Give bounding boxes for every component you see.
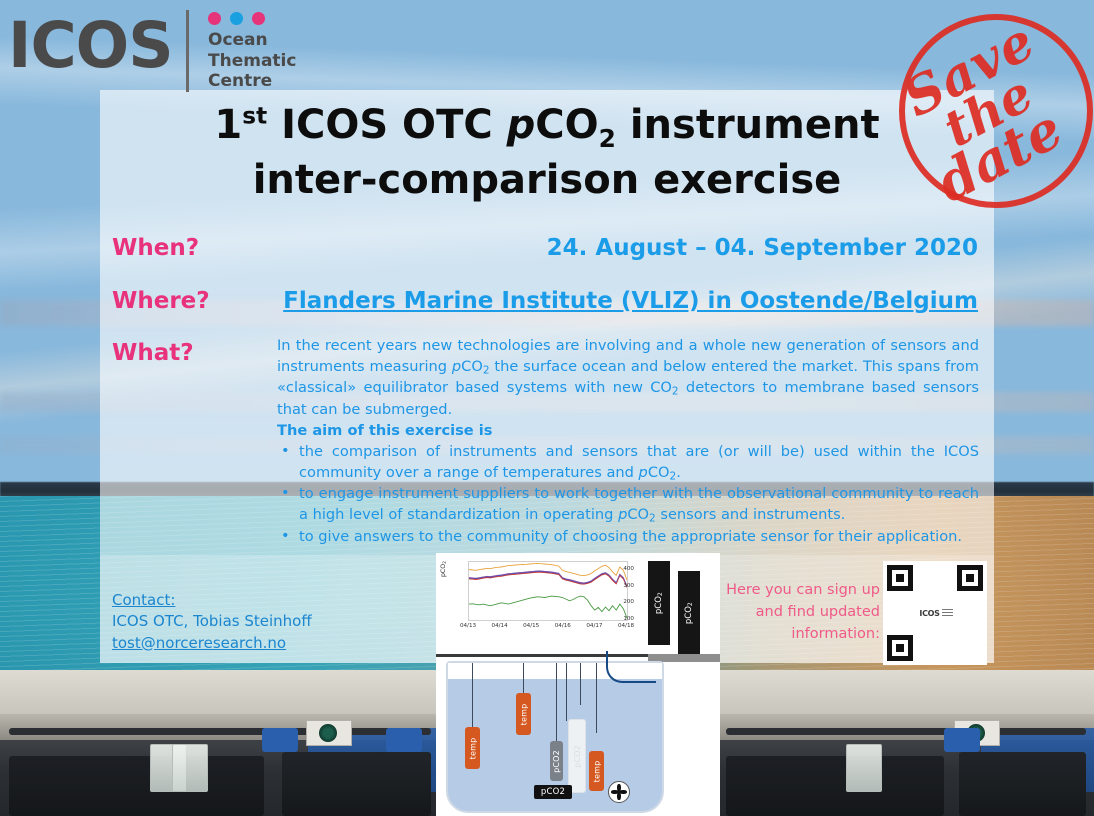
title-co: CO [535, 102, 598, 148]
photo-jar-3 [846, 744, 882, 792]
chart-y-tick-400: 400 [610, 566, 634, 572]
photo-equilibrator-2 [386, 728, 422, 752]
logo-subtitle-line3: Centre [208, 71, 296, 92]
logo-dot-3-icon [252, 12, 265, 25]
bullet-marker-icon: • [281, 526, 290, 547]
logo-dot-2-icon [230, 12, 243, 25]
bullet-marker-icon: • [281, 441, 290, 462]
photo-wall [718, 670, 1094, 716]
icos-logo: ICOS Ocean Thematic Centre [8, 6, 308, 92]
chart-x-tick-04-15: 04/15 [518, 623, 544, 629]
page-title-line1: 1st ICOS OTC pCO2 instrument [110, 100, 984, 155]
temperature-sensor-1-label: temp [468, 737, 477, 759]
pco2-sensor-grey: pCO2 [550, 741, 563, 781]
page-title: 1st ICOS OTC pCO2 instrument inter-compa… [110, 100, 984, 205]
temperature-sensor-2-label: temp [519, 703, 528, 725]
chart-series-sensor-red [469, 572, 627, 587]
qr-finder-top-left-icon [887, 565, 913, 591]
bullet-marker-icon: • [281, 483, 290, 504]
probe-cable-2 [523, 663, 524, 695]
photo-tank-a [726, 756, 944, 816]
photo-tank-b [282, 752, 432, 816]
analyser-inlet-tube [606, 651, 656, 683]
logo-dot-1-icon [208, 12, 221, 25]
title-ordinal: 1 [214, 102, 242, 148]
contact-block: Contact: ICOS OTC, Tobias Steinhoff tost… [112, 590, 312, 654]
what-bullet-3-a: to give answers to the community of choo… [299, 528, 962, 545]
signup-text: Here you can sign up and find updated in… [720, 580, 880, 645]
what-paragraph-1: In the recent years new technologies are… [277, 336, 979, 420]
title-part1: ICOS OTC [267, 102, 506, 148]
signup-line-2: and find updated [720, 602, 880, 624]
chart-series-svg [469, 562, 627, 620]
pco2-sensor-black: pCO2 [534, 785, 572, 799]
qr-finder-top-right-icon [957, 565, 983, 591]
chart-y-axis-label: pCO2 [440, 561, 448, 577]
seawater-tank: temp temp pCO2 pCO2 temp pCO2 [446, 661, 664, 813]
photo-equilibrator-1 [262, 728, 298, 752]
chart-series-sensor-blue [469, 572, 627, 587]
chart-series-sensor-green [469, 596, 627, 618]
when-value: 24. August – 04. September 2020 [547, 235, 978, 261]
stirrer-pump-icon [608, 781, 630, 803]
pco2-sensor-black-label: pCO2 [541, 787, 565, 797]
what-bullet-2: •to engage instrument suppliers to work … [277, 484, 979, 526]
chart-y-tick-100: 100 [610, 616, 634, 622]
chart-y-tick-200: 200 [610, 599, 634, 605]
probe-cable-6 [596, 663, 597, 733]
temperature-sensor-3-label: temp [592, 760, 601, 782]
photo-jar-2 [172, 744, 208, 792]
probe-cable-5 [580, 663, 581, 705]
logo-subtitle: Ocean Thematic Centre [208, 30, 296, 92]
contact-email[interactable]: tost@norceresearch.no [112, 633, 312, 654]
what-bullet-list: •the comparison of instruments and senso… [277, 442, 979, 547]
what-label: What? [112, 340, 194, 366]
lab-photo-right [718, 670, 1094, 816]
chart-plot-area [468, 561, 628, 621]
photo-wall [0, 670, 440, 716]
title-italic-p: p [507, 102, 536, 148]
chart-x-tick-04-13: 04/13 [455, 623, 481, 629]
title-part2: instrument [616, 102, 880, 148]
probe-cable-3 [556, 663, 557, 745]
qr-code-canvas: ICOS [887, 565, 983, 661]
when-label: When? [112, 235, 199, 261]
qr-center-logo: ICOS [914, 604, 958, 622]
temperature-sensor-1: temp [465, 727, 480, 769]
pco2-timeseries-chart: pCO2 100200300400 04/1304/1404/1504/1604… [442, 559, 634, 641]
photo-tank-a [9, 756, 264, 816]
photo-tank-b [959, 752, 1087, 816]
qr-center-logo-bars-icon [942, 609, 953, 618]
chart-x-tick-04-18: 04/18 [613, 623, 639, 629]
signup-line-1: Here you can sign up [720, 580, 880, 602]
logo-subtitle-line2: Thematic [208, 51, 296, 72]
logo-dots [208, 12, 265, 25]
pco2-analyser-box-2: pCO2 [678, 571, 700, 655]
what-bullet-1-b: . [676, 464, 681, 481]
qr-code[interactable]: ICOS [883, 561, 987, 665]
pco2-analyser-box-1: pCO2 [648, 561, 670, 645]
experiment-figure: pCO2 100200300400 04/1304/1404/1504/1604… [436, 553, 720, 816]
probe-cable-4 [566, 663, 567, 721]
photo-fan-unit-1 [306, 720, 352, 746]
what-aim-heading: The aim of this exercise is [277, 421, 979, 442]
photo-pipe-rail [726, 728, 1087, 735]
chart-x-tick-04-16: 04/16 [550, 623, 576, 629]
photo-pipe-rail [9, 728, 431, 735]
what-bullet-2-b: sensors and instruments. [656, 506, 846, 523]
temperature-sensor-3: temp [589, 751, 604, 791]
pco2-analyser-2-label: pCO2 [684, 602, 694, 624]
what-description: In the recent years new technologies are… [277, 336, 979, 548]
chart-y-tick-300: 300 [610, 583, 634, 589]
chart-x-tick-04-14: 04/14 [487, 623, 513, 629]
what-bullet-3: •to give answers to the community of cho… [277, 527, 979, 548]
pco2-sensor-white-label: pCO2 [573, 745, 582, 768]
contact-organisation: ICOS OTC, Tobias Steinhoff [112, 611, 312, 632]
temperature-sensor-2: temp [516, 693, 531, 735]
lab-photo-left [0, 670, 440, 816]
contact-heading: Contact: [112, 590, 312, 611]
qr-center-logo-label: ICOS [919, 609, 939, 618]
where-value[interactable]: Flanders Marine Institute (VLIZ) in Oost… [283, 288, 978, 314]
pco2-sensor-white: pCO2 [568, 719, 586, 793]
page-title-line2: inter-comparison exercise [110, 155, 984, 205]
what-bullet-1: •the comparison of instruments and senso… [277, 442, 979, 484]
title-sub2: 2 [599, 124, 616, 153]
photo-equilibrator-3 [944, 728, 980, 752]
qr-finder-bottom-left-icon [887, 635, 913, 661]
title-ordinal-suffix: st [242, 103, 267, 130]
logo-divider [186, 10, 189, 92]
logo-wordmark: ICOS [8, 14, 173, 77]
pco2-sensor-grey-label: pCO2 [552, 750, 561, 773]
logo-subtitle-line1: Ocean [208, 30, 296, 51]
chart-x-tick-04-17: 04/17 [581, 623, 607, 629]
what-bullet-2-a: to engage instrument suppliers to work t… [299, 485, 979, 523]
what-p1-pco2-1: p [452, 358, 461, 375]
probe-cable-1 [472, 663, 473, 729]
pco2-analyser-1-label: pCO2 [654, 592, 664, 614]
signup-line-3: information: [720, 624, 880, 646]
where-label: Where? [112, 288, 210, 314]
